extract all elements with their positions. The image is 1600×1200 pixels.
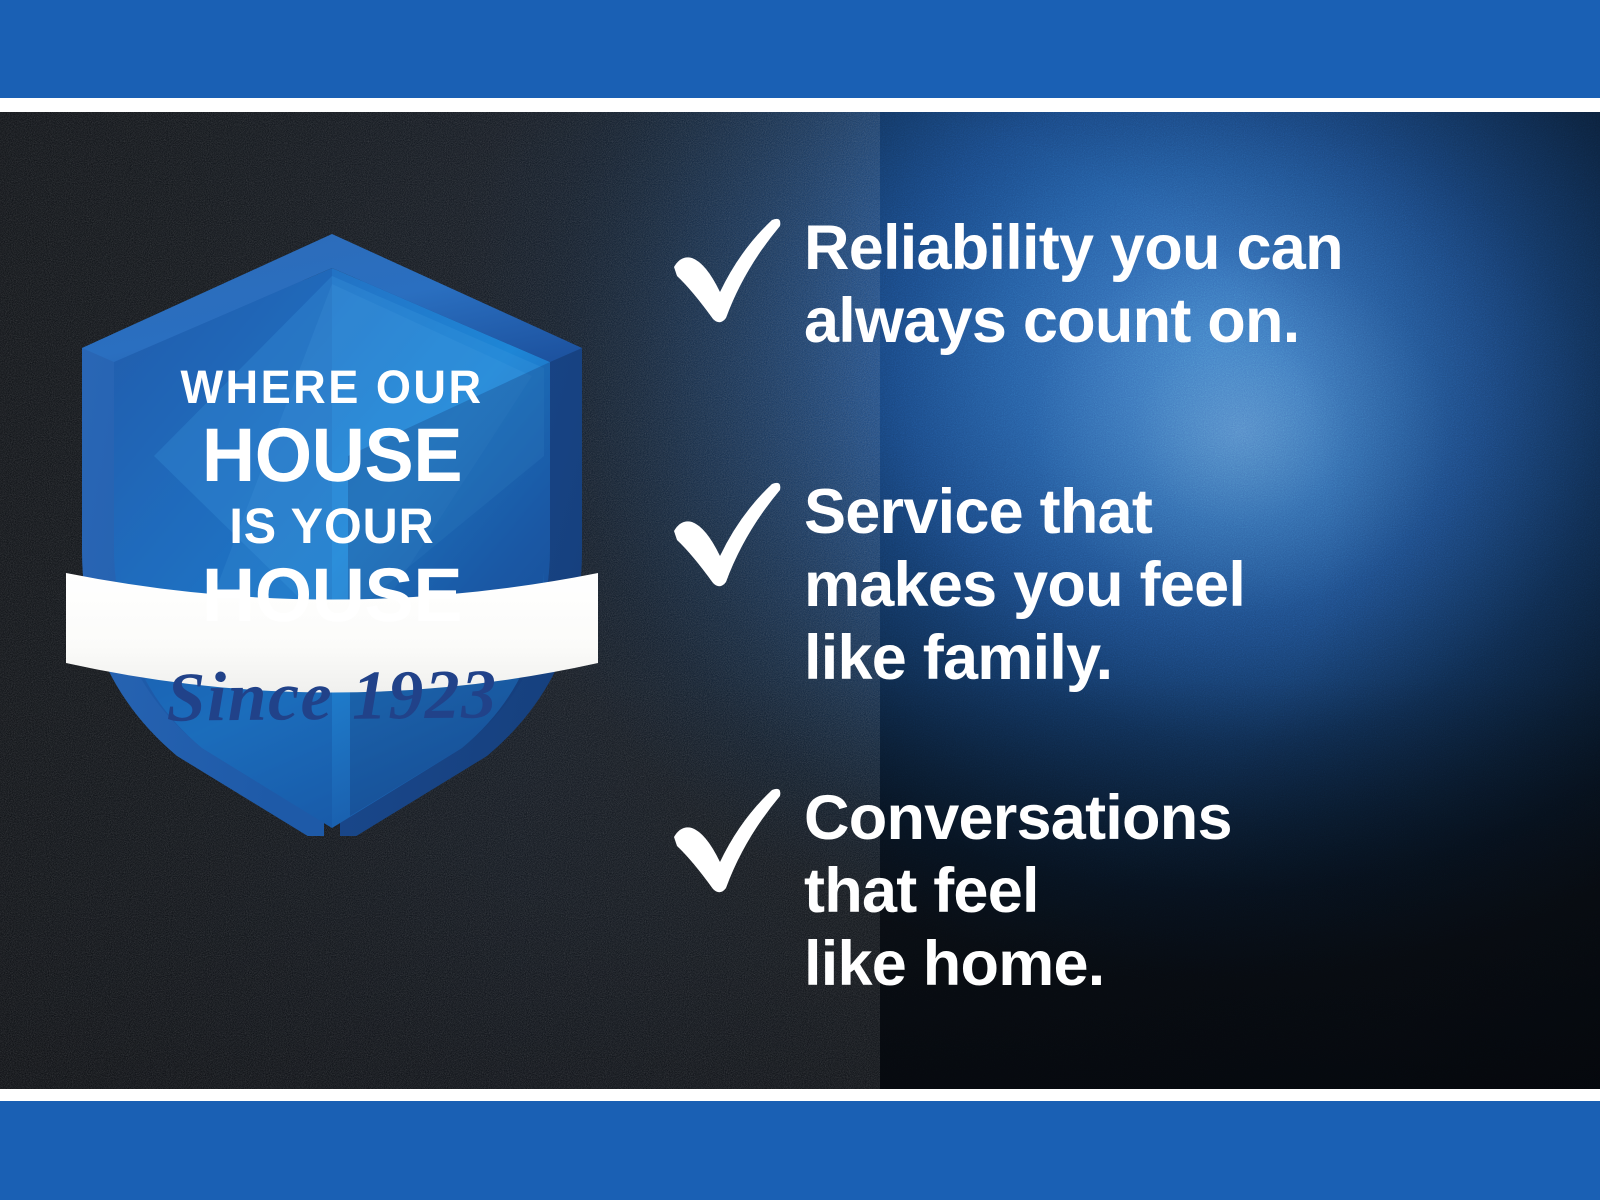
list-item-text: Service that makes you feel like family. — [804, 474, 1245, 695]
badge-line-house-second: HOUSE — [70, 558, 594, 634]
bottom-divider-stripe — [0, 1089, 1600, 1101]
list-item-text: Reliability you can always count on. — [804, 210, 1343, 358]
badge-ribbon-text: Since 1923 — [62, 659, 603, 735]
checkmark-icon — [668, 478, 786, 590]
list-item: Service that makes you feel like family. — [668, 474, 1245, 695]
list-item: Conversations that feel like home. — [668, 780, 1232, 1001]
checkmark-icon-wrap — [668, 210, 804, 326]
list-item: Reliability you can always count on. — [668, 210, 1343, 358]
badge-line-house-first: HOUSE — [70, 418, 594, 494]
benefits-list: Reliability you can always count on. Ser… — [668, 112, 1548, 1089]
bottom-brand-bar — [0, 1101, 1600, 1200]
badge-line-is-your: IS YOUR — [70, 501, 594, 551]
badge-line-where: WHERE OUR — [73, 363, 591, 410]
checkmark-icon-wrap — [668, 780, 804, 896]
checkmark-icon-wrap — [668, 474, 804, 590]
list-item-text: Conversations that feel like home. — [804, 780, 1232, 1001]
top-divider-stripe — [0, 98, 1600, 112]
banner-canvas: WHERE OUR HOUSE IS YOUR HOUSE Since 1923… — [0, 0, 1600, 1200]
top-brand-bar — [0, 0, 1600, 98]
checkmark-icon — [668, 214, 786, 326]
checkmark-icon — [668, 784, 786, 896]
shield-badge: WHERE OUR HOUSE IS YOUR HOUSE Since 1923 — [62, 156, 602, 836]
